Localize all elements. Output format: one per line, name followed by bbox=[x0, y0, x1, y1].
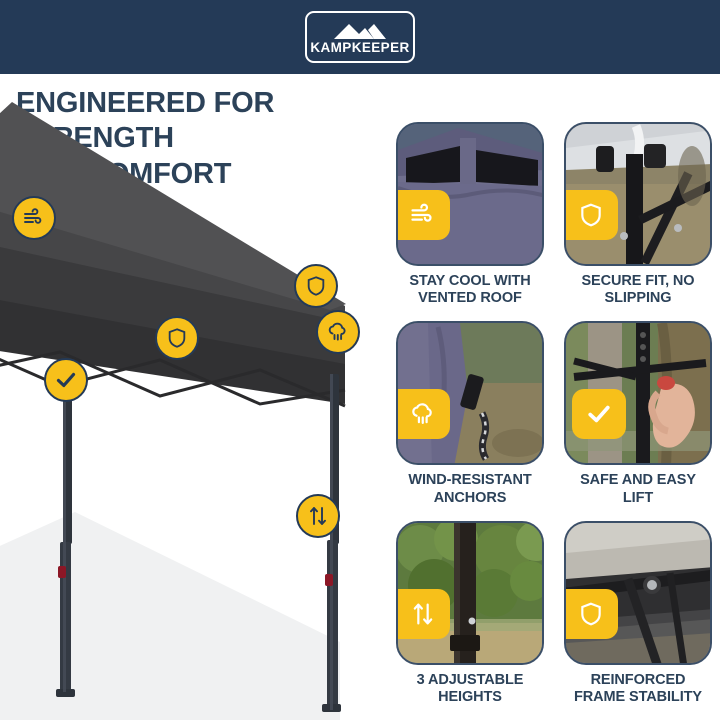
feature-icon-chip bbox=[572, 389, 626, 439]
height-adjust-button-right bbox=[325, 574, 333, 586]
wind-icon bbox=[22, 206, 46, 230]
feature-cell[interactable]: STAY COOL WITH VENTED ROOF bbox=[396, 122, 544, 313]
brand-logo-text: KAMPKEEPER bbox=[310, 41, 409, 55]
product-illustration bbox=[0, 74, 390, 720]
callout-shield-mid[interactable] bbox=[155, 316, 199, 360]
adjustable-leg-photo bbox=[396, 521, 544, 665]
check-icon bbox=[54, 368, 78, 392]
shield-icon bbox=[578, 601, 604, 627]
feature-caption: SAFE AND EASY LIFT bbox=[564, 472, 712, 507]
anchor-strap-photo bbox=[396, 321, 544, 465]
callout-wind[interactable] bbox=[12, 196, 56, 240]
check-icon bbox=[585, 400, 613, 428]
feature-cell[interactable]: REINFORCED FRAME STABILITY bbox=[564, 521, 712, 712]
rain-cloud-icon bbox=[409, 400, 437, 428]
feature-grid: STAY COOL WITH VENTED ROOF bbox=[396, 122, 712, 712]
feature-cell[interactable]: 3 ADJUSTABLE HEIGHTS bbox=[396, 521, 544, 712]
feature-caption: STAY COOL WITH VENTED ROOF bbox=[396, 273, 544, 308]
frame-underside-photo bbox=[564, 521, 712, 665]
feature-caption: REINFORCED FRAME STABILITY bbox=[564, 672, 712, 707]
rain-cloud-icon bbox=[326, 320, 350, 344]
brand-header-bar: KAMPKEEPER bbox=[0, 0, 720, 74]
easy-lift-photo bbox=[564, 321, 712, 465]
feature-icon-chip bbox=[564, 190, 618, 240]
height-adjust-button-left bbox=[58, 566, 66, 578]
shield-icon bbox=[305, 275, 327, 297]
wind-icon bbox=[409, 201, 437, 229]
brand-logo: KAMPKEEPER bbox=[305, 11, 415, 63]
callout-shield-top[interactable] bbox=[294, 264, 338, 308]
feature-cell[interactable]: WIND-RESISTANT ANCHORS bbox=[396, 321, 544, 512]
callout-adjustable-height[interactable] bbox=[296, 494, 340, 538]
feature-icon-chip bbox=[396, 389, 450, 439]
feature-caption: 3 ADJUSTABLE HEIGHTS bbox=[396, 672, 544, 707]
callout-rain[interactable] bbox=[316, 310, 360, 354]
feature-icon-chip bbox=[396, 589, 450, 639]
callout-check[interactable] bbox=[44, 358, 88, 402]
feature-icon-chip bbox=[396, 190, 450, 240]
feature-icon-chip bbox=[564, 589, 618, 639]
feature-caption: SECURE FIT, NO SLIPPING bbox=[564, 273, 712, 308]
shield-icon bbox=[166, 327, 188, 349]
feature-cell[interactable]: SAFE AND EASY LIFT bbox=[564, 321, 712, 512]
mountain-icon bbox=[330, 20, 390, 40]
up-down-arrows-icon bbox=[409, 600, 437, 628]
vented-roof-photo bbox=[396, 122, 544, 266]
feature-caption: WIND-RESISTANT ANCHORS bbox=[396, 472, 544, 507]
feature-cell[interactable]: SECURE FIT, NO SLIPPING bbox=[564, 122, 712, 313]
shield-icon bbox=[578, 202, 604, 228]
frame-joint-photo bbox=[564, 122, 712, 266]
ground-shadow bbox=[0, 512, 340, 720]
up-down-arrows-icon bbox=[306, 504, 330, 528]
